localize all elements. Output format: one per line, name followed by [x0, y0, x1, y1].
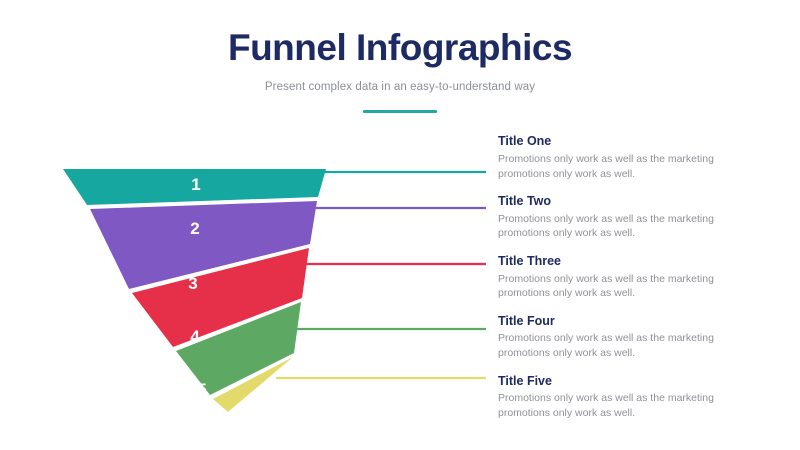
- legend-item-3[interactable]: Title Three Promotions only work as well…: [498, 254, 758, 301]
- funnel-chart: 1 2 3 4 5: [40, 150, 500, 430]
- title-divider: [363, 110, 437, 113]
- legend-item-description: Promotions only work as well as the mark…: [498, 212, 734, 242]
- legend-item-description: Promotions only work as well as the mark…: [498, 331, 734, 361]
- legend-item-title: Title One: [498, 134, 758, 150]
- funnel-svg: 1 2 3 4 5: [40, 150, 500, 430]
- funnel-number-4: 4: [190, 327, 200, 346]
- legend-item-title: Title Five: [498, 374, 758, 390]
- page-title: Funnel Infographics: [0, 28, 800, 69]
- legend-item-1[interactable]: Title One Promotions only work as well a…: [498, 134, 758, 181]
- funnel-legend: Title One Promotions only work as well a…: [498, 134, 758, 421]
- funnel-number-2: 2: [190, 219, 199, 238]
- legend-item-2[interactable]: Title Two Promotions only work as well a…: [498, 194, 758, 241]
- legend-item-5[interactable]: Title Five Promotions only work as well …: [498, 374, 758, 421]
- legend-item-4[interactable]: Title Four Promotions only work as well …: [498, 314, 758, 361]
- slide-canvas: Funnel Infographics Present complex data…: [0, 0, 800, 450]
- page-subtitle: Present complex data in an easy-to-under…: [0, 81, 800, 93]
- legend-item-description: Promotions only work as well as the mark…: [498, 152, 734, 182]
- funnel-number-3: 3: [188, 274, 197, 293]
- legend-item-description: Promotions only work as well as the mark…: [498, 391, 734, 421]
- funnel-number-5: 5: [197, 380, 206, 399]
- legend-item-description: Promotions only work as well as the mark…: [498, 272, 734, 302]
- header: Funnel Infographics Present complex data…: [0, 28, 800, 113]
- legend-item-title: Title Two: [498, 194, 758, 210]
- legend-item-title: Title Three: [498, 254, 758, 270]
- legend-item-title: Title Four: [498, 314, 758, 330]
- funnel-number-1: 1: [191, 175, 200, 194]
